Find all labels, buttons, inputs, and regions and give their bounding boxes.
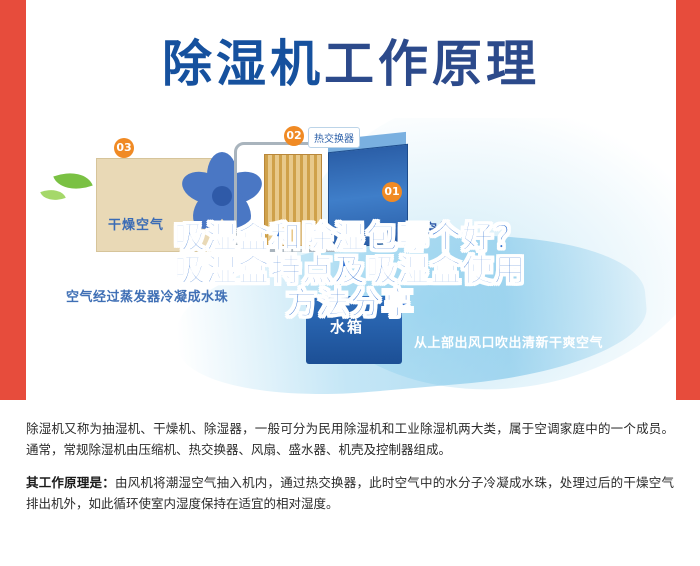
marker-02: 02 — [284, 126, 304, 146]
title-part-1: 除湿机 — [162, 35, 324, 93]
paragraph-2-lead: 其工作原理是： — [26, 475, 115, 490]
infographic-title: 除湿机工作原理 — [26, 24, 676, 96]
paragraph-2-text: 由风机将潮湿空气抽入机内，通过热交换器，此时空气中的水分子冷凝成水珠，处理过后的… — [26, 475, 674, 511]
paragraph-2: 其工作原理是：由风机将潮湿空气抽入机内，通过热交换器，此时空气中的水分子冷凝成水… — [26, 472, 674, 514]
outlet-note: 从上部出风口吹出清新干爽空气 — [414, 332, 603, 351]
infographic-title-area: 除湿机工作原理 — [26, 0, 676, 118]
overlay-headline: 吸湿盒和除湿包哪个好？ 吸湿盒特点及吸湿盒使用 方法分享 — [0, 222, 700, 321]
paragraph-1-text: 除湿机又称为抽湿机、干燥机、除湿器，一般可分为民用除湿机和工业除湿机两大类，属于… — [26, 421, 674, 457]
marker-01: 01 — [382, 182, 402, 202]
leaf-small-icon — [40, 185, 65, 206]
article-body: 除湿机又称为抽湿机、干燥机、除湿器，一般可分为民用除湿机和工业除湿机两大类，属于… — [0, 400, 700, 566]
infographic-image: 除湿机工作原理 03 干燥空气 02 热交换 — [0, 0, 700, 400]
left-red-band — [0, 0, 26, 400]
overlay-headline-line-1: 吸湿盒和除湿包哪个好？ — [0, 222, 700, 255]
title-part-2: 工作原理 — [324, 35, 540, 93]
overlay-headline-line-3: 方法分享 — [0, 288, 700, 321]
marker-03: 03 — [114, 138, 134, 158]
overlay-headline-line-2: 吸湿盒特点及吸湿盒使用 — [0, 255, 700, 288]
paragraph-1: 除湿机又称为抽湿机、干燥机、除湿器，一般可分为民用除湿机和工业除湿机两大类，属于… — [26, 418, 674, 460]
right-red-band — [676, 0, 700, 400]
heat-exchanger-badge: 热交换器 — [308, 127, 360, 148]
document-page: 除湿机工作原理 03 干燥空气 02 热交换 — [0, 0, 700, 566]
